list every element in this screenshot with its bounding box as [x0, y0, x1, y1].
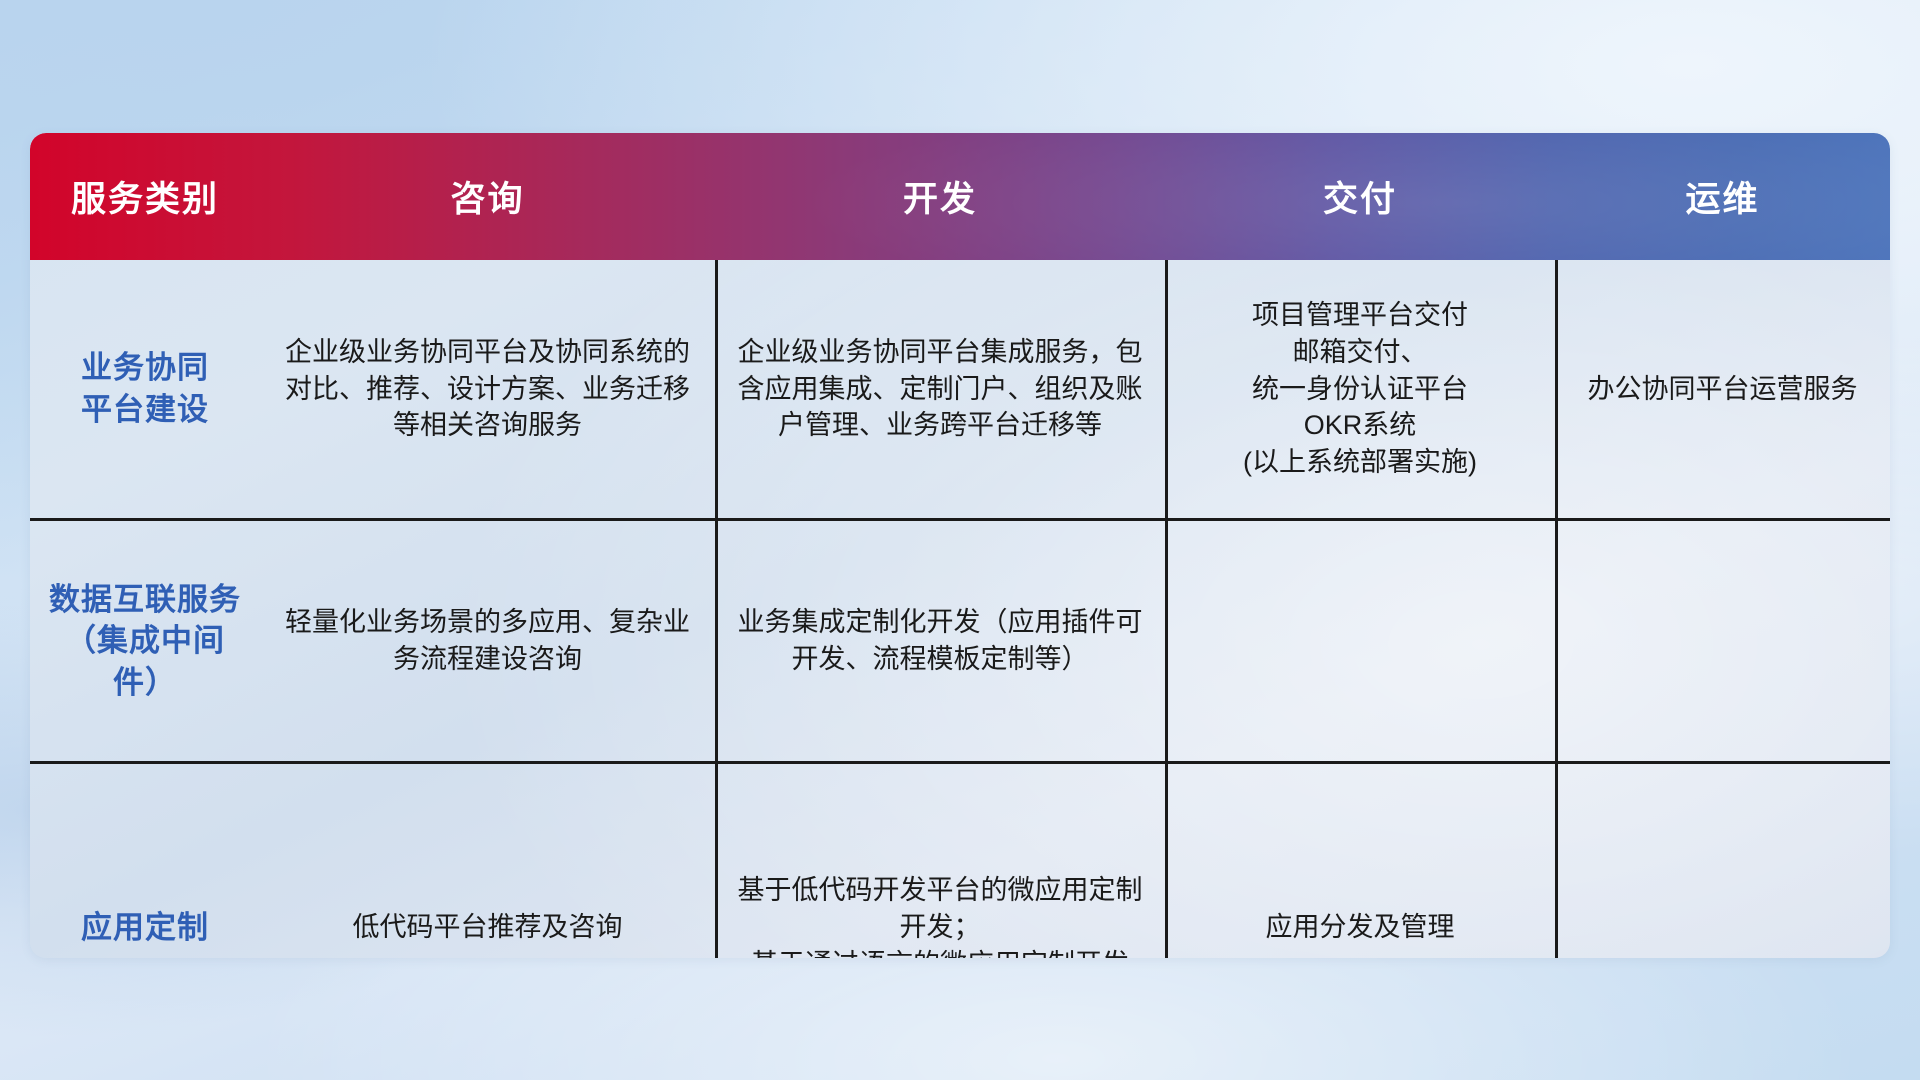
table-row: 业务协同 平台建设 企业级业务协同平台及协同系统的对比、推荐、设计方案、业务迁移… — [30, 260, 1890, 521]
row-3-delivery-text: 应用分发及管理 — [1266, 909, 1455, 946]
table-header-row: 服务类别 咨询 开发 交付 运维 — [30, 133, 1890, 260]
table-header-operations: 运维 — [1555, 133, 1890, 260]
row-2-delivery-cell — [1165, 521, 1555, 761]
row-3-category-text: 应用定制 — [81, 907, 209, 949]
row-3-category-line-1: 应用定制 — [81, 907, 209, 949]
row-1-consulting-cell: 企业级业务协同平台及协同系统的对比、推荐、设计方案、业务迁移等相关咨询服务 — [260, 260, 715, 518]
table-header-development: 开发 — [715, 133, 1165, 260]
row-1-operations-text: 办公协同平台运营服务 — [1588, 371, 1858, 408]
row-3-operations-cell — [1555, 764, 1890, 958]
table-header-delivery: 交付 — [1165, 133, 1555, 260]
row-3-development-text: 基于低代码开发平台的微应用定制开发； 基于通过语言的微应用定制开发 — [729, 872, 1151, 958]
row-1-delivery-cell: 项目管理平台交付 邮箱交付、 统一身份认证平台 OKR系统 (以上系统部署实施) — [1165, 260, 1555, 518]
row-2-development-cell: 业务集成定制化开发（应用插件可开发、流程模板定制等） — [715, 521, 1165, 761]
row-1-delivery-text: 项目管理平台交付 邮箱交付、 统一身份认证平台 OKR系统 (以上系统部署实施) — [1243, 297, 1477, 481]
row-2-consulting-text: 轻量化业务场景的多应用、复杂业务流程建设咨询 — [274, 604, 701, 677]
row-1-operations-cell: 办公协同平台运营服务 — [1555, 260, 1890, 518]
row-1-development-text: 企业级业务协同平台集成服务，包含应用集成、定制门户、组织及账户管理、业务跨平台迁… — [729, 334, 1151, 444]
row-2-consulting-cell: 轻量化业务场景的多应用、复杂业务流程建设咨询 — [260, 521, 715, 761]
row-3-development-cell: 基于低代码开发平台的微应用定制开发； 基于通过语言的微应用定制开发 — [715, 764, 1165, 958]
row-2-category-text: 数据互联服务 （集成中间件） — [44, 579, 246, 704]
row-3-delivery-cell: 应用分发及管理 — [1165, 764, 1555, 958]
table-body: 业务协同 平台建设 企业级业务协同平台及协同系统的对比、推荐、设计方案、业务迁移… — [30, 260, 1890, 958]
row-1-consulting-text: 企业级业务协同平台及协同系统的对比、推荐、设计方案、业务迁移等相关咨询服务 — [274, 334, 701, 444]
service-matrix-table: 服务类别 咨询 开发 交付 运维 业务协同 平台建设 企业级业务协同平台及协同系… — [30, 133, 1890, 958]
row-2-development-text: 业务集成定制化开发（应用插件可开发、流程模板定制等） — [729, 604, 1151, 677]
row-1-category-line-1: 业务协同 — [81, 347, 209, 389]
row-3-consulting-text: 低代码平台推荐及咨询 — [353, 909, 623, 946]
row-2-category-line-2: （集成中间件） — [44, 620, 246, 703]
table-header-consulting: 咨询 — [260, 133, 715, 260]
row-3-consulting-cell: 低代码平台推荐及咨询 — [260, 764, 715, 958]
row-1-category-cell: 业务协同 平台建设 — [30, 260, 260, 518]
row-2-category-line-1: 数据互联服务 — [44, 579, 246, 621]
row-2-operations-cell — [1555, 521, 1890, 761]
table-row: 数据互联服务 （集成中间件） 轻量化业务场景的多应用、复杂业务流程建设咨询 业务… — [30, 521, 1890, 764]
row-3-category-cell: 应用定制 — [30, 764, 260, 958]
row-1-category-text: 业务协同 平台建设 — [81, 347, 209, 430]
row-2-category-cell: 数据互联服务 （集成中间件） — [30, 521, 260, 761]
row-1-category-line-2: 平台建设 — [81, 389, 209, 431]
table-header-service-category: 服务类别 — [30, 133, 260, 260]
row-1-development-cell: 企业级业务协同平台集成服务，包含应用集成、定制门户、组织及账户管理、业务跨平台迁… — [715, 260, 1165, 518]
table-row: 应用定制 低代码平台推荐及咨询 基于低代码开发平台的微应用定制开发； 基于通过语… — [30, 764, 1890, 958]
